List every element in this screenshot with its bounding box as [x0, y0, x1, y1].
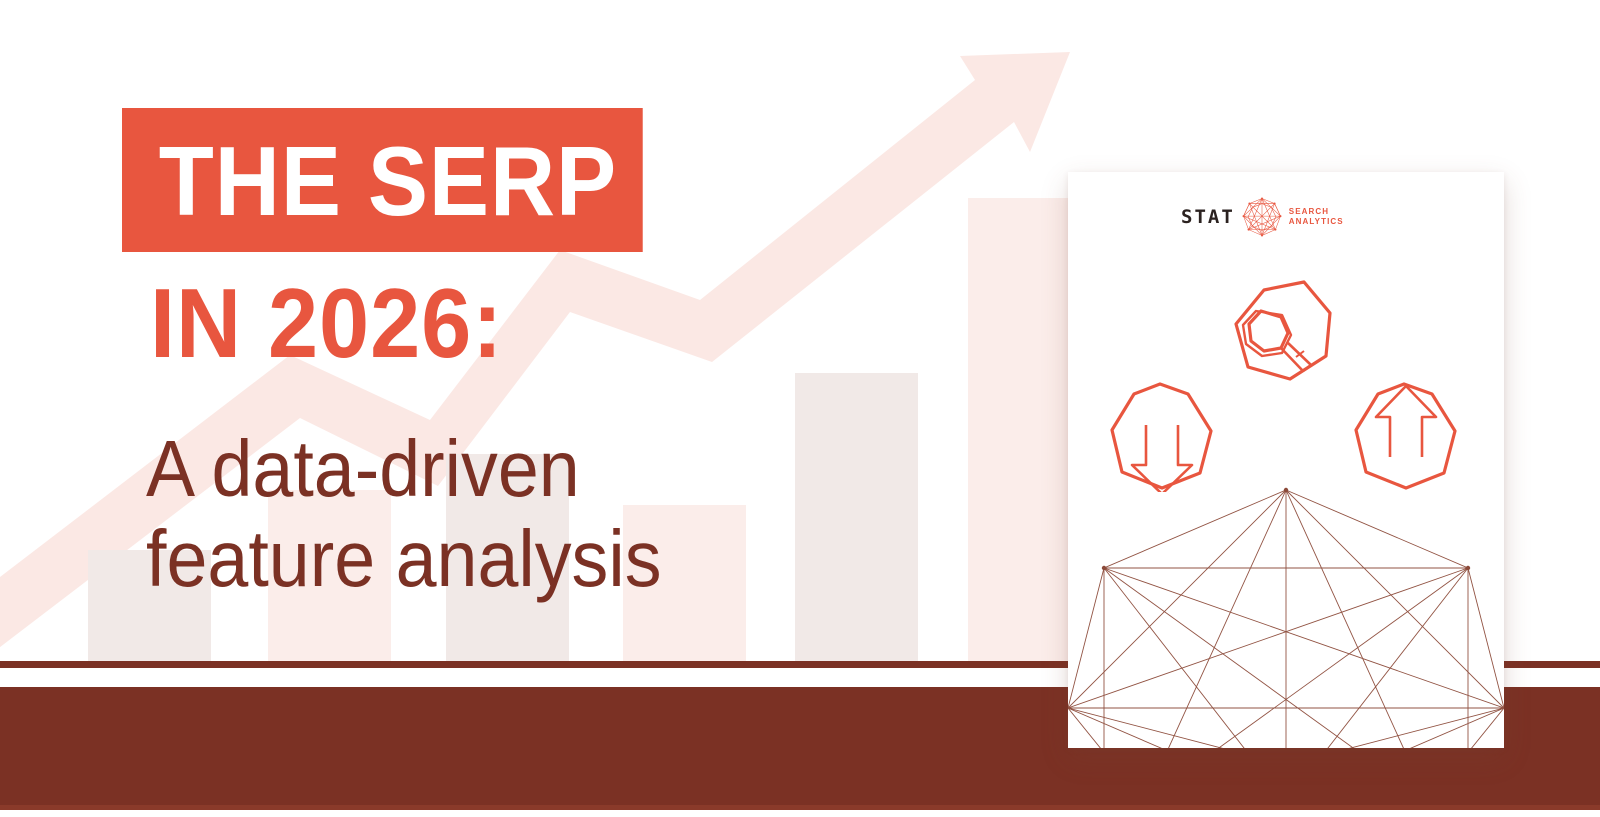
subtitle: A data-driven feature analysis: [146, 424, 661, 603]
magnifying-glass-icon: [1236, 282, 1330, 379]
bottom-band-edge: [0, 805, 1600, 810]
headline-line-2: IN 2026:: [150, 274, 645, 372]
headline-band: THE SERP: [122, 108, 643, 252]
chart-bar: [795, 373, 918, 668]
poster-canvas: THE SERP IN 2026: A data-driven feature …: [0, 0, 1600, 817]
cover-badges: [1068, 172, 1504, 492]
headline: THE SERP IN 2026:: [122, 108, 688, 372]
report-cover-card[interactable]: STAT: [1068, 172, 1504, 748]
polygon-network-graphic: [1068, 472, 1504, 748]
